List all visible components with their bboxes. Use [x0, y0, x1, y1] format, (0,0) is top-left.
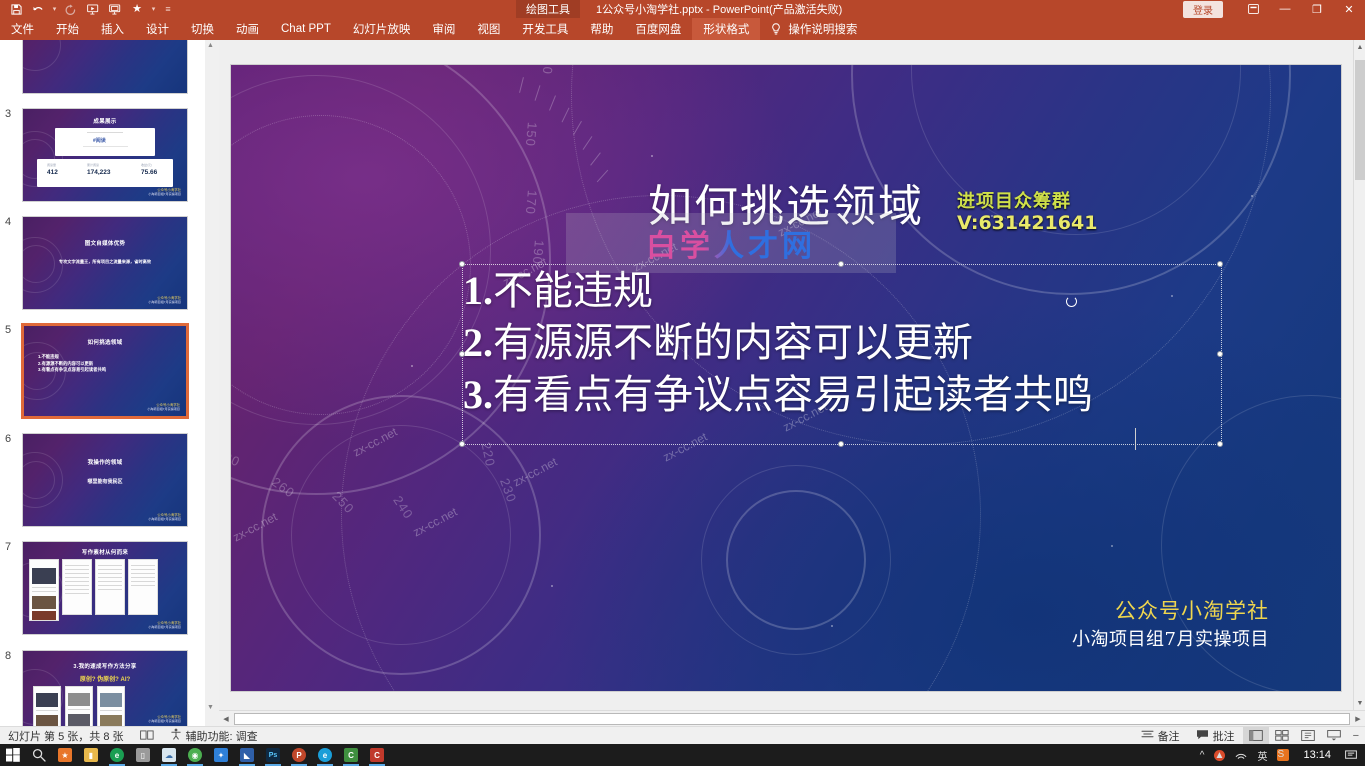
- resize-handle-nw[interactable]: [459, 261, 465, 267]
- list-item[interactable]: 5 如何挑选领域 1.不能违规 2.有源源不断的内容可以更新 3.有看点有争议点…: [0, 324, 198, 418]
- powerpoint-window: ▾ ★ ▾ ≡ 绘图工具 1公众号小淘学社.pptx - PowerPoint(…: [0, 0, 1365, 766]
- stat-label: 累计阅读: [87, 163, 99, 167]
- thumbnail-screenshot: [95, 559, 125, 615]
- taskbar-app-edge[interactable]: e: [104, 744, 130, 766]
- slide-thumbnail-selected[interactable]: 如何挑选领域 1.不能违规 2.有源源不断的内容可以更新 3.有看点有争议点容易…: [22, 324, 188, 418]
- tab-chat-ppt[interactable]: Chat PPT: [270, 18, 342, 40]
- undo-dropdown-icon[interactable]: ▾: [50, 5, 59, 13]
- vertical-scrollbar-thumb[interactable]: [1355, 60, 1365, 180]
- tab-shape-format[interactable]: 形状格式: [692, 18, 760, 40]
- normal-view-button[interactable]: [1243, 727, 1269, 744]
- watermark-promo-line1: 进项目众筹群: [957, 191, 1097, 212]
- tray-network-icon[interactable]: [1231, 750, 1251, 761]
- star-dropdown-icon[interactable]: ▾: [149, 5, 158, 13]
- accessibility-icon: [170, 728, 182, 743]
- taskbar-app-leaf[interactable]: ◣: [234, 744, 260, 766]
- tab-design[interactable]: 设计: [135, 18, 180, 40]
- tab-view[interactable]: 视图: [466, 18, 511, 40]
- splitter-handle[interactable]: [208, 200, 212, 540]
- zoom-out-icon[interactable]: −: [1353, 730, 1359, 742]
- comments-label: 批注: [1213, 728, 1235, 744]
- list-item[interactable]: 7 写作素材从何而来: [0, 541, 198, 635]
- thumbnail-screenshot: [128, 559, 158, 615]
- watermark-promo-line2: V:631421641: [957, 212, 1097, 234]
- thumbnail-screenshot: [29, 559, 59, 621]
- list-item[interactable]: 4 图文自媒体优势 专攻文字流量王，所有项目之流量来源，省时高效 公众号小淘学社…: [0, 216, 198, 310]
- thumbnail-body: 1.不能违规 2.有源源不断的内容可以更新 3.有看点有争议点容易引起读者共鸣: [38, 354, 106, 374]
- thumbnail-number: 8: [0, 650, 22, 726]
- stat-label: 收益(元): [141, 163, 152, 167]
- list-item[interactable]: 6 我操作的领域 哪里能有我民区 公众号小淘学社 小淘项目组7月实操项目: [0, 433, 198, 527]
- scroll-down-icon[interactable]: ▼: [1354, 696, 1365, 710]
- login-button[interactable]: 登录: [1183, 1, 1223, 18]
- thumbnail-subtitle: 哪里能有我民区: [23, 478, 187, 485]
- tab-review[interactable]: 审阅: [421, 18, 466, 40]
- list-item[interactable]: [0, 40, 198, 94]
- tray-clock[interactable]: 13:14: [1295, 749, 1339, 761]
- current-slide-canvas[interactable]: 140 150 170 190 220 230 240 250 260 290: [230, 64, 1342, 692]
- taskbar-app-cloud[interactable]: ☁: [156, 744, 182, 766]
- notes-icon: [1141, 729, 1154, 743]
- scroll-left-icon[interactable]: ◀: [219, 712, 233, 726]
- thumbnail-footer-line2: 小淘项目组7月实操项目: [147, 407, 180, 411]
- thumbnail-footer: 公众号小淘学社 小淘项目组7月实操项目: [148, 296, 181, 304]
- language-icon[interactable]: [132, 730, 162, 741]
- thumbnail-number: [0, 40, 22, 94]
- scroll-right-icon[interactable]: ▶: [1351, 712, 1365, 726]
- thumbnail-footer: 公众号小淘学社 小淘项目组7月实操项目: [148, 513, 181, 521]
- star-icon[interactable]: ★: [127, 1, 147, 17]
- thumbnail-footer-line2: 小淘项目组7月实操项目: [148, 192, 181, 196]
- customize-qat-icon[interactable]: ≡: [160, 4, 176, 14]
- scroll-down-icon[interactable]: ▼: [207, 704, 214, 711]
- resize-handle-se[interactable]: [1217, 441, 1223, 447]
- tray-sogou-icon[interactable]: S: [1273, 749, 1293, 761]
- stat-value: 75.66: [141, 169, 157, 176]
- watermark-tile: zx-cc.net: [511, 455, 560, 490]
- credit-line2: 小淘项目组7月实操项目: [1072, 627, 1269, 653]
- scroll-up-icon[interactable]: ▲: [1354, 40, 1365, 54]
- tab-baidu-netdisk[interactable]: 百度网盘: [624, 18, 692, 40]
- tab-transitions[interactable]: 切换: [180, 18, 225, 40]
- rotate-handle[interactable]: [1066, 296, 1077, 307]
- title-bar: ▾ ★ ▾ ≡ 绘图工具 1公众号小淘学社.pptx - PowerPoint(…: [0, 0, 1365, 18]
- window-controls-group: 登录 — ❐ ✕: [1183, 0, 1365, 18]
- resize-handle-w[interactable]: [459, 351, 465, 357]
- thumbnail-title: 成果展示: [23, 117, 187, 125]
- document-title: 1公众号小淘学社.pptx - PowerPoint(产品激活失败): [596, 1, 842, 17]
- workspace: 3 成果展示 #阅读 阅读量 412 累计阅读: [0, 40, 1365, 726]
- taskbar-app-powerpoint[interactable]: P: [286, 744, 312, 766]
- thumbnail-title: 我操作的领域: [23, 458, 187, 466]
- tab-developer[interactable]: 开发工具: [511, 18, 579, 40]
- zoom-controls[interactable]: −: [1347, 730, 1365, 742]
- thumbnail-screenshot: [65, 686, 93, 726]
- stat-label: 阅读量: [47, 163, 56, 167]
- taskbar-app-file-explorer[interactable]: ▮: [78, 744, 104, 766]
- pane-splitter[interactable]: ▲ ▼: [205, 40, 219, 726]
- tray-antivirus-icon[interactable]: ▲: [1210, 750, 1229, 761]
- stat-value: 412: [47, 169, 58, 176]
- taskbar-search-icon[interactable]: [26, 744, 52, 766]
- credit-line1: 公众号小淘学社: [1072, 596, 1269, 626]
- undo-icon[interactable]: [28, 1, 48, 17]
- status-bar: 幻灯片 第 5 张，共 8 张 辅助功能: 调查 备注 批注: [0, 726, 1365, 744]
- tell-me-search-label: 操作说明搜索: [788, 21, 857, 37]
- ribbon-tab-bar: 文件 开始 插入 设计 切换 动画 Chat PPT 幻灯片放映 审阅 视图 开…: [0, 18, 1365, 40]
- resize-handle-n[interactable]: [838, 261, 844, 267]
- thumbnail-screenshot: [62, 559, 92, 615]
- watermark-tile: zx-cc.net: [351, 425, 400, 460]
- thumbnail-footer: 公众号小淘学社 小淘项目组7月实操项目: [148, 188, 181, 196]
- thumbnail-title: 3.我的速成写作方法分享: [23, 662, 187, 670]
- tab-help[interactable]: 帮助: [579, 18, 624, 40]
- tab-home[interactable]: 开始: [45, 18, 90, 40]
- resize-handle-ne[interactable]: [1217, 261, 1223, 267]
- watermark-promo: 进项目众筹群 V:631421641: [957, 191, 1097, 235]
- slideshow-view-button[interactable]: [1321, 727, 1347, 744]
- thumbnail-subtitle: 原创? 伪原创? AI?: [23, 674, 187, 683]
- thumbnail-footer: 公众号小淘学社 小淘项目组7月实操项目: [148, 621, 181, 629]
- slide-sorter-view-button[interactable]: [1269, 727, 1295, 744]
- taskbar-app-star[interactable]: ★: [52, 744, 78, 766]
- redo-icon[interactable]: [61, 1, 81, 17]
- start-from-beginning-icon[interactable]: [83, 1, 103, 17]
- context-tab-drawing-tools: 绘图工具: [516, 0, 580, 18]
- notes-label: 备注: [1158, 728, 1180, 744]
- thumbnail-subtitle: 专攻文字流量王，所有项目之流量来源，省时高效: [23, 259, 187, 265]
- thumbnail-footer-line2: 小淘项目组7月实操项目: [148, 300, 181, 304]
- notification-icon[interactable]: [1341, 750, 1361, 761]
- taskbar-app-green[interactable]: C: [338, 744, 364, 766]
- scroll-up-icon[interactable]: ▲: [207, 42, 214, 49]
- thumbnail-number: 4: [0, 216, 22, 310]
- ribbon-display-options-icon[interactable]: [1237, 0, 1269, 18]
- comments-button[interactable]: 批注: [1188, 728, 1243, 744]
- thumbnail-number: 6: [0, 433, 22, 527]
- windows-start-icon[interactable]: [0, 744, 26, 766]
- taskbar-app-usb[interactable]: ▯: [130, 744, 156, 766]
- thumbnail-number: 7: [0, 541, 22, 635]
- slide-counter[interactable]: 幻灯片 第 5 张，共 8 张: [0, 728, 132, 744]
- thumbnail-footer: 公众号小淘学社 小淘项目组7月实操项目: [147, 403, 180, 411]
- taskbar-app-photoshop[interactable]: Ps: [260, 744, 286, 766]
- thumbnail-number: 5: [0, 324, 22, 418]
- stage-horizontal-scrollbar[interactable]: ◀ ▶: [219, 710, 1365, 726]
- slide-stage: 140 150 170 190 220 230 240 250 260 290: [219, 40, 1365, 726]
- slide-thumbnail[interactable]: 图文自媒体优势 专攻文字流量王，所有项目之流量来源，省时高效 公众号小淘学社 小…: [22, 216, 188, 310]
- stat-value: 174,223: [87, 169, 111, 176]
- thumbnail-screenshot: [33, 686, 61, 726]
- watermark-center-text: 白学人才网: [646, 221, 816, 265]
- tell-me-search[interactable]: 操作说明搜索: [760, 18, 857, 40]
- text-cursor: [1135, 428, 1136, 450]
- thumbnail-footer: 公众号小淘学社 小淘项目组7月实操项目: [148, 715, 181, 723]
- slide-thumbnail[interactable]: 写作素材从何而来 公众号小淘学社: [22, 541, 188, 635]
- slide-thumbnail[interactable]: [22, 40, 188, 94]
- taskbar-app-browser[interactable]: e: [312, 744, 338, 766]
- selection-frame: [462, 264, 1222, 445]
- tray-ime-icon[interactable]: 英: [1253, 748, 1271, 763]
- thumbnail-footer-line2: 小淘项目组7月实操项目: [148, 625, 181, 629]
- tab-file[interactable]: 文件: [0, 18, 45, 40]
- comment-icon: [1196, 729, 1209, 743]
- horizontal-scrollbar-thumb[interactable]: [234, 713, 1350, 725]
- stage-vertical-scrollbar[interactable]: ▲ ▼: [1353, 40, 1365, 726]
- resize-handle-s[interactable]: [838, 441, 844, 447]
- quick-access-toolbar: ▾ ★ ▾ ≡: [0, 1, 176, 17]
- thumbnail-screenshot: [97, 686, 125, 726]
- taskbar-app-red[interactable]: C: [364, 744, 390, 766]
- list-item[interactable]: 3 成果展示 #阅读 阅读量 412 累计阅读: [0, 108, 198, 202]
- thumbnail-number: 3: [0, 108, 22, 202]
- tab-slide-show[interactable]: 幻灯片放映: [342, 18, 422, 40]
- slide-thumbnail[interactable]: 成果展示 #阅读 阅读量 412 累计阅读 174,223 收益(元) 75.6…: [22, 108, 188, 202]
- windows-taskbar: ★ ▮ e ▯ ☁ ◉ ✦ ◣ Ps P e C C ^ ▲ 英 S 13:14: [0, 744, 1365, 766]
- slide-thumbnail[interactable]: 我操作的领域 哪里能有我民区 公众号小淘学社 小淘项目组7月实操项目: [22, 433, 188, 527]
- watermark-tile: zx-cc.net: [411, 505, 460, 540]
- reading-view-button[interactable]: [1295, 727, 1321, 744]
- save-icon[interactable]: [6, 1, 26, 17]
- thumbnail-card: #阅读: [55, 128, 155, 156]
- thumbnail-footer-line2: 小淘项目组7月实操项目: [148, 719, 181, 723]
- thumbnail-body-line: 3.有看点有争议点容易引起读者共鸣: [38, 367, 106, 374]
- taskbar-app-wechat-work[interactable]: ✦: [208, 744, 234, 766]
- thumbnail-stats-card: 阅读量 412 累计阅读 174,223 收益(元) 75.66: [37, 159, 173, 187]
- taskbar-app-chrome[interactable]: ◉: [182, 744, 208, 766]
- start-from-current-icon[interactable]: [105, 1, 125, 17]
- close-button[interactable]: ✕: [1333, 0, 1365, 18]
- notes-button[interactable]: 备注: [1133, 728, 1188, 744]
- lightbulb-icon: [770, 22, 782, 36]
- status-bar-right: 备注 批注 −: [1133, 727, 1365, 744]
- accessibility-label: 辅助功能: 调查: [186, 728, 258, 744]
- tray-expand-icon[interactable]: ^: [1196, 750, 1209, 761]
- thumbnail-title: 图文自媒体优势: [23, 239, 187, 247]
- thumbnail-footer-line2: 小淘项目组7月实操项目: [148, 517, 181, 521]
- slide-credit[interactable]: 公众号小淘学社 小淘项目组7月实操项目: [1072, 596, 1269, 653]
- tab-insert[interactable]: 插入: [90, 18, 135, 40]
- resize-handle-e[interactable]: [1217, 351, 1223, 357]
- system-tray: ^ ▲ 英 S 13:14: [1196, 748, 1365, 763]
- slide-thumbnail[interactable]: 3.我的速成写作方法分享 原创? 伪原创? AI? 公众号小淘学社 小淘项目组7…: [22, 650, 188, 726]
- maximize-button[interactable]: ❐: [1301, 0, 1333, 18]
- thumbnail-title: 写作素材从何而来: [23, 548, 187, 556]
- thumbnail-body-line: 1.不能违规: [38, 354, 106, 361]
- slide-thumbnail-pane[interactable]: 3 成果展示 #阅读 阅读量 412 累计阅读: [0, 40, 205, 726]
- resize-handle-sw[interactable]: [459, 441, 465, 447]
- tab-animations[interactable]: 动画: [225, 18, 270, 40]
- accessibility-checker[interactable]: 辅助功能: 调查: [162, 728, 266, 744]
- minimize-button[interactable]: —: [1269, 0, 1301, 18]
- thumbnail-decoration: [23, 40, 187, 93]
- list-item[interactable]: 8 3.我的速成写作方法分享 原创? 伪原创? AI?: [0, 650, 198, 726]
- watermark-tile: zx-cc.net: [231, 510, 280, 545]
- thumbnail-title: 如何挑选领域: [24, 338, 186, 346]
